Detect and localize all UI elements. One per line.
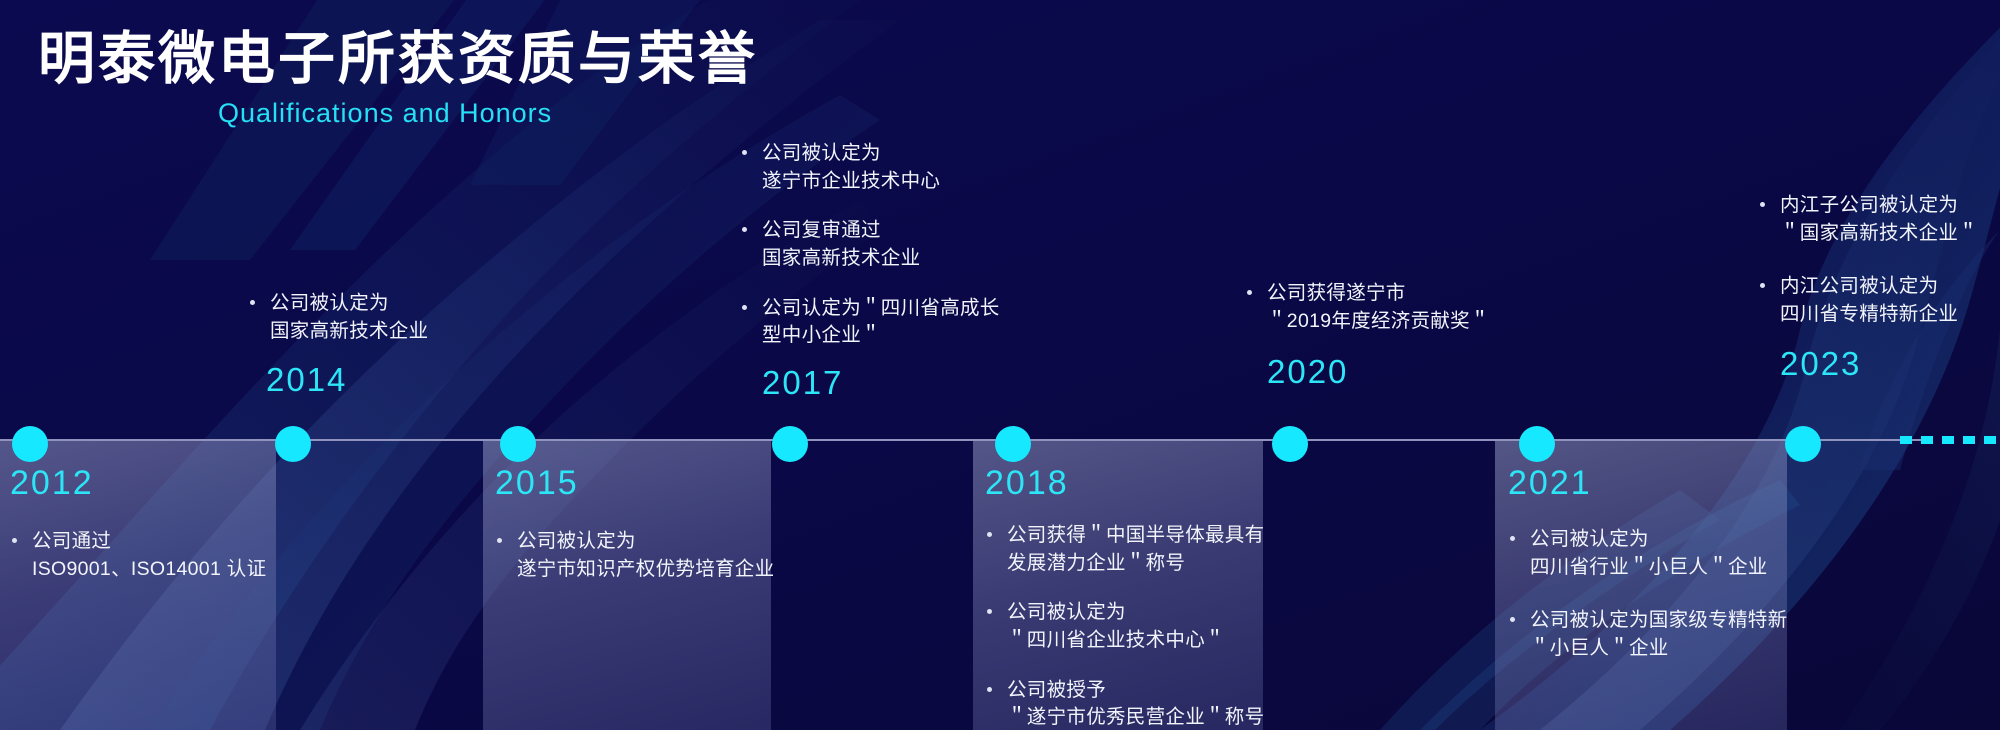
year-label-2017: 2017 <box>762 366 1050 399</box>
list-item: 公司获得＂中国半导体最具有 发展潜力企业＂称号 <box>985 522 1277 577</box>
list-item: 内江子公司被认定为 ＂国家高新技术企业＂ <box>1758 192 2000 247</box>
year-label-2021: 2021 <box>1508 466 1808 500</box>
list-item: 公司复审通过 国家高新技术企业 <box>740 217 1050 272</box>
list-item: 公司获得遂宁市 ＂2019年度经济贡献奖＂ <box>1245 280 1545 335</box>
header: 明泰微电子所获资质与荣誉 Qualifications and Honors <box>38 30 758 129</box>
milestone-items-2023: 内江子公司被认定为 ＂国家高新技术企业＂ 内江公司被认定为 四川省专精特新企业 <box>1758 192 2000 329</box>
list-item: 公司被认定为 ＂四川省企业技术中心＂ <box>985 599 1277 654</box>
milestone-items-2020: 公司获得遂宁市 ＂2019年度经济贡献奖＂ <box>1245 280 1545 335</box>
timeline-dot-2018[interactable] <box>995 426 1031 462</box>
timeline-dot-2021[interactable] <box>1519 426 1555 462</box>
list-item: 公司认定为＂四川省高成长 型中小企业＂ <box>740 295 1050 350</box>
milestone-2012: 2012 公司通过 ISO9001、ISO14001 认证 <box>10 466 310 583</box>
year-label-2018: 2018 <box>985 466 1277 500</box>
milestone-items-2017: 公司被认定为 遂宁市企业技术中心 公司复审通过 国家高新技术企业 公司认定为＂四… <box>740 140 1050 350</box>
slide-canvas: 明泰微电子所获资质与荣誉 Qualifications and Honors 2… <box>0 0 2000 730</box>
year-label-2015: 2015 <box>495 466 785 500</box>
list-item: 公司被认定为国家级专精特新 ＂小巨人＂企业 <box>1508 607 1808 662</box>
timeline-dot-2015[interactable] <box>500 426 536 462</box>
milestone-2020: 公司获得遂宁市 ＂2019年度经济贡献奖＂ 2020 <box>1245 280 1545 388</box>
page-subtitle: Qualifications and Honors <box>218 98 758 129</box>
year-label-2014: 2014 <box>266 363 548 396</box>
list-item: 公司被认定为 四川省行业＂小巨人＂企业 <box>1508 526 1808 581</box>
milestone-2015: 2015 公司被认定为 遂宁市知识产权优势培育企业 <box>495 466 785 583</box>
milestone-2021: 2021 公司被认定为 四川省行业＂小巨人＂企业 公司被认定为国家级专精特新 ＂… <box>1508 466 1808 663</box>
timeline-dot-2023[interactable] <box>1785 426 1821 462</box>
milestone-2023: 内江子公司被认定为 ＂国家高新技术企业＂ 内江公司被认定为 四川省专精特新企业 … <box>1758 192 2000 380</box>
year-label-2023: 2023 <box>1780 347 2000 380</box>
timeline-dot-2014[interactable] <box>275 426 311 462</box>
year-label-2020: 2020 <box>1267 355 1545 388</box>
milestone-items-2018: 公司获得＂中国半导体最具有 发展潜力企业＂称号 公司被认定为 ＂四川省企业技术中… <box>985 522 1277 730</box>
list-item: 公司被授予 ＂遂宁市优秀民营企业＂称号 <box>985 677 1277 730</box>
timeline-axis-dashes <box>1900 436 2000 444</box>
milestone-2018: 2018 公司获得＂中国半导体最具有 发展潜力企业＂称号 公司被认定为 ＂四川省… <box>985 466 1277 730</box>
page-title: 明泰微电子所获资质与荣誉 <box>38 30 758 90</box>
timeline-dot-2020[interactable] <box>1272 426 1308 462</box>
milestone-items-2014: 公司被认定为 国家高新技术企业 <box>248 290 548 345</box>
list-item: 内江公司被认定为 四川省专精特新企业 <box>1758 273 2000 328</box>
milestone-items-2012: 公司通过 ISO9001、ISO14001 认证 <box>10 528 310 583</box>
list-item: 公司被认定为 国家高新技术企业 <box>248 290 548 345</box>
timeline-dot-2017[interactable] <box>772 426 808 462</box>
milestone-2017: 公司被认定为 遂宁市企业技术中心 公司复审通过 国家高新技术企业 公司认定为＂四… <box>740 140 1050 399</box>
list-item: 公司通过 ISO9001、ISO14001 认证 <box>10 528 310 583</box>
list-item: 公司被认定为 遂宁市企业技术中心 <box>740 140 1050 195</box>
timeline-dot-2012[interactable] <box>12 426 48 462</box>
milestone-items-2021: 公司被认定为 四川省行业＂小巨人＂企业 公司被认定为国家级专精特新 ＂小巨人＂企… <box>1508 526 1808 663</box>
year-label-2012: 2012 <box>10 466 310 500</box>
milestone-2014: 公司被认定为 国家高新技术企业 2014 <box>248 290 548 396</box>
list-item: 公司被认定为 遂宁市知识产权优势培育企业 <box>495 528 785 583</box>
milestone-items-2015: 公司被认定为 遂宁市知识产权优势培育企业 <box>495 528 785 583</box>
